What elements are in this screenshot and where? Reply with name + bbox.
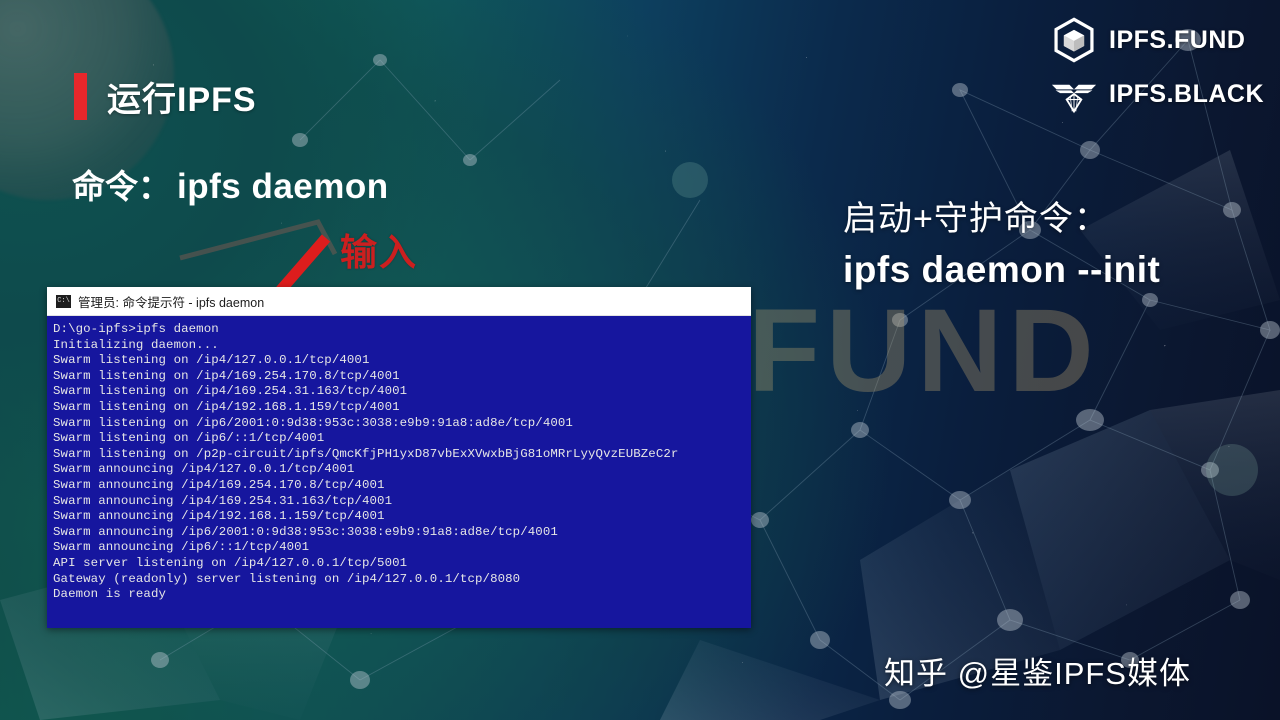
terminal-line: D:\go-ipfs>ipfs daemon [53, 322, 751, 338]
terminal-line: Swarm listening on /ip4/127.0.0.1/tcp/40… [53, 353, 751, 369]
command-label: 命令： [72, 160, 171, 208]
logo-ipfs-fund[interactable]: IPFS.FUND [1051, 16, 1264, 64]
right-block-command: ipfs daemon --init [843, 249, 1160, 291]
console-icon-glyph: C:\ [57, 298, 70, 305]
terminal-line: Swarm announcing /ip4/127.0.0.1/tcp/4001 [53, 462, 751, 478]
terminal-output[interactable]: D:\go-ipfs>ipfs daemon Initializing daem… [47, 316, 751, 628]
terminal-line: Swarm listening on /ip4/192.168.1.159/tc… [53, 400, 751, 416]
right-block-title: 启动+守护命令： [843, 198, 1160, 241]
terminal-line: Daemon is ready [53, 587, 751, 603]
title-accent-bar [74, 73, 87, 120]
logo-label-ipfs-black: IPFS.BLACK [1109, 80, 1264, 109]
logo-ipfs-black[interactable]: IPFS.BLACK [1051, 70, 1264, 118]
slide-canvas: FUND 运行IPFS 命令： ipfs daemon 输入 C:\ 管理员: … [0, 0, 1280, 720]
terminal-line: Swarm announcing /ip4/169.254.170.8/tcp/… [53, 478, 751, 494]
terminal-line: Swarm announcing /ip6/::1/tcp/4001 [53, 540, 751, 556]
right-text-block: 启动+守护命令： ipfs daemon --init [843, 198, 1160, 291]
winged-diamond-icon [1051, 71, 1097, 117]
logo-label-ipfs-fund: IPFS.FUND [1109, 26, 1245, 55]
title-text: 运行IPFS [107, 72, 257, 121]
page-title: 运行IPFS [74, 72, 257, 121]
terminal-line: Swarm announcing /ip6/2001:0:9d38:953c:3… [53, 525, 751, 541]
terminal-line: Swarm listening on /p2p-circuit/ipfs/Qmc… [53, 447, 751, 463]
terminal-line: Initializing daemon... [53, 338, 751, 354]
terminal-line: Swarm listening on /ip4/169.254.31.163/t… [53, 384, 751, 400]
hexagon-cube-icon [1051, 17, 1097, 63]
logo-stack: IPFS.FUND IPFS.BLACK [1051, 16, 1264, 118]
terminal-line: Gateway (readonly) server listening on /… [53, 572, 751, 588]
command-prompt-window[interactable]: C:\ 管理员: 命令提示符 - ipfs daemon D:\go-ipfs>… [47, 287, 751, 628]
window-titlebar[interactable]: C:\ 管理员: 命令提示符 - ipfs daemon [47, 287, 751, 316]
console-icon: C:\ [56, 295, 71, 308]
terminal-line: Swarm announcing /ip4/169.254.31.163/tcp… [53, 494, 751, 510]
terminal-line: Swarm listening on /ip4/169.254.170.8/tc… [53, 369, 751, 385]
command-value: ipfs daemon [177, 167, 389, 207]
author-watermark: 知乎 @星鉴IPFS媒体 [884, 648, 1191, 693]
command-line-display: 命令： ipfs daemon [72, 160, 389, 208]
window-title: 管理员: 命令提示符 - ipfs daemon [78, 292, 264, 311]
terminal-line: Swarm listening on /ip6/2001:0:9d38:953c… [53, 416, 751, 432]
background-watermark-fund: FUND [748, 292, 1100, 410]
terminal-line: API server listening on /ip4/127.0.0.1/t… [53, 556, 751, 572]
terminal-line: Swarm announcing /ip4/192.168.1.159/tcp/… [53, 509, 751, 525]
terminal-line: Swarm listening on /ip6/::1/tcp/4001 [53, 431, 751, 447]
